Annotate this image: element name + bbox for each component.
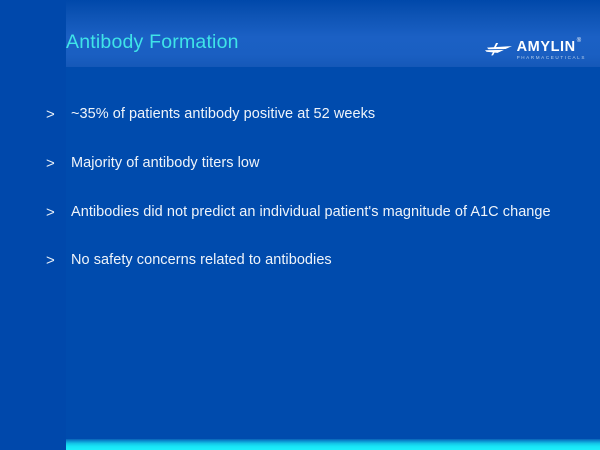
- bullet-list: > ~35% of patients antibody positive at …: [46, 104, 566, 299]
- slide-header-band: Antibody Formation AMYLIN® PHARMACEUTICA…: [66, 0, 600, 67]
- logo-wordmark-text: AMYLIN: [517, 39, 576, 55]
- list-item: > ~35% of patients antibody positive at …: [46, 104, 566, 125]
- chevron-bullet-icon: >: [46, 202, 64, 223]
- chevron-bullet-icon: >: [46, 104, 64, 125]
- chevron-bullet-icon: >: [46, 250, 64, 271]
- list-item-text: No safety concerns related to antibodies: [71, 252, 332, 268]
- slide-canvas: Antibody Formation AMYLIN® PHARMACEUTICA…: [0, 0, 600, 450]
- amylin-logo: AMYLIN® PHARMACEUTICALS: [485, 40, 586, 62]
- logo-trademark-symbol: ®: [577, 38, 582, 44]
- page-title: Antibody Formation: [66, 31, 239, 53]
- list-item-text: Majority of antibody titers low: [71, 155, 260, 171]
- footer-accent-bar: [66, 439, 600, 450]
- chevron-bullet-icon: >: [46, 153, 64, 174]
- list-item: > Antibodies did not predict an individu…: [46, 202, 566, 223]
- logo-wordmark: AMYLIN®: [517, 40, 576, 54]
- list-item: > Majority of antibody titers low: [46, 153, 566, 174]
- amylin-swoosh-icon: [485, 41, 513, 57]
- logo-tagline: PHARMACEUTICALS: [517, 55, 586, 61]
- list-item-text: ~35% of patients antibody positive at 52…: [71, 106, 375, 122]
- list-item: > No safety concerns related to antibodi…: [46, 250, 566, 271]
- logo-text-block: AMYLIN® PHARMACEUTICALS: [517, 40, 586, 61]
- list-item-text: Antibodies did not predict an individual…: [71, 204, 551, 220]
